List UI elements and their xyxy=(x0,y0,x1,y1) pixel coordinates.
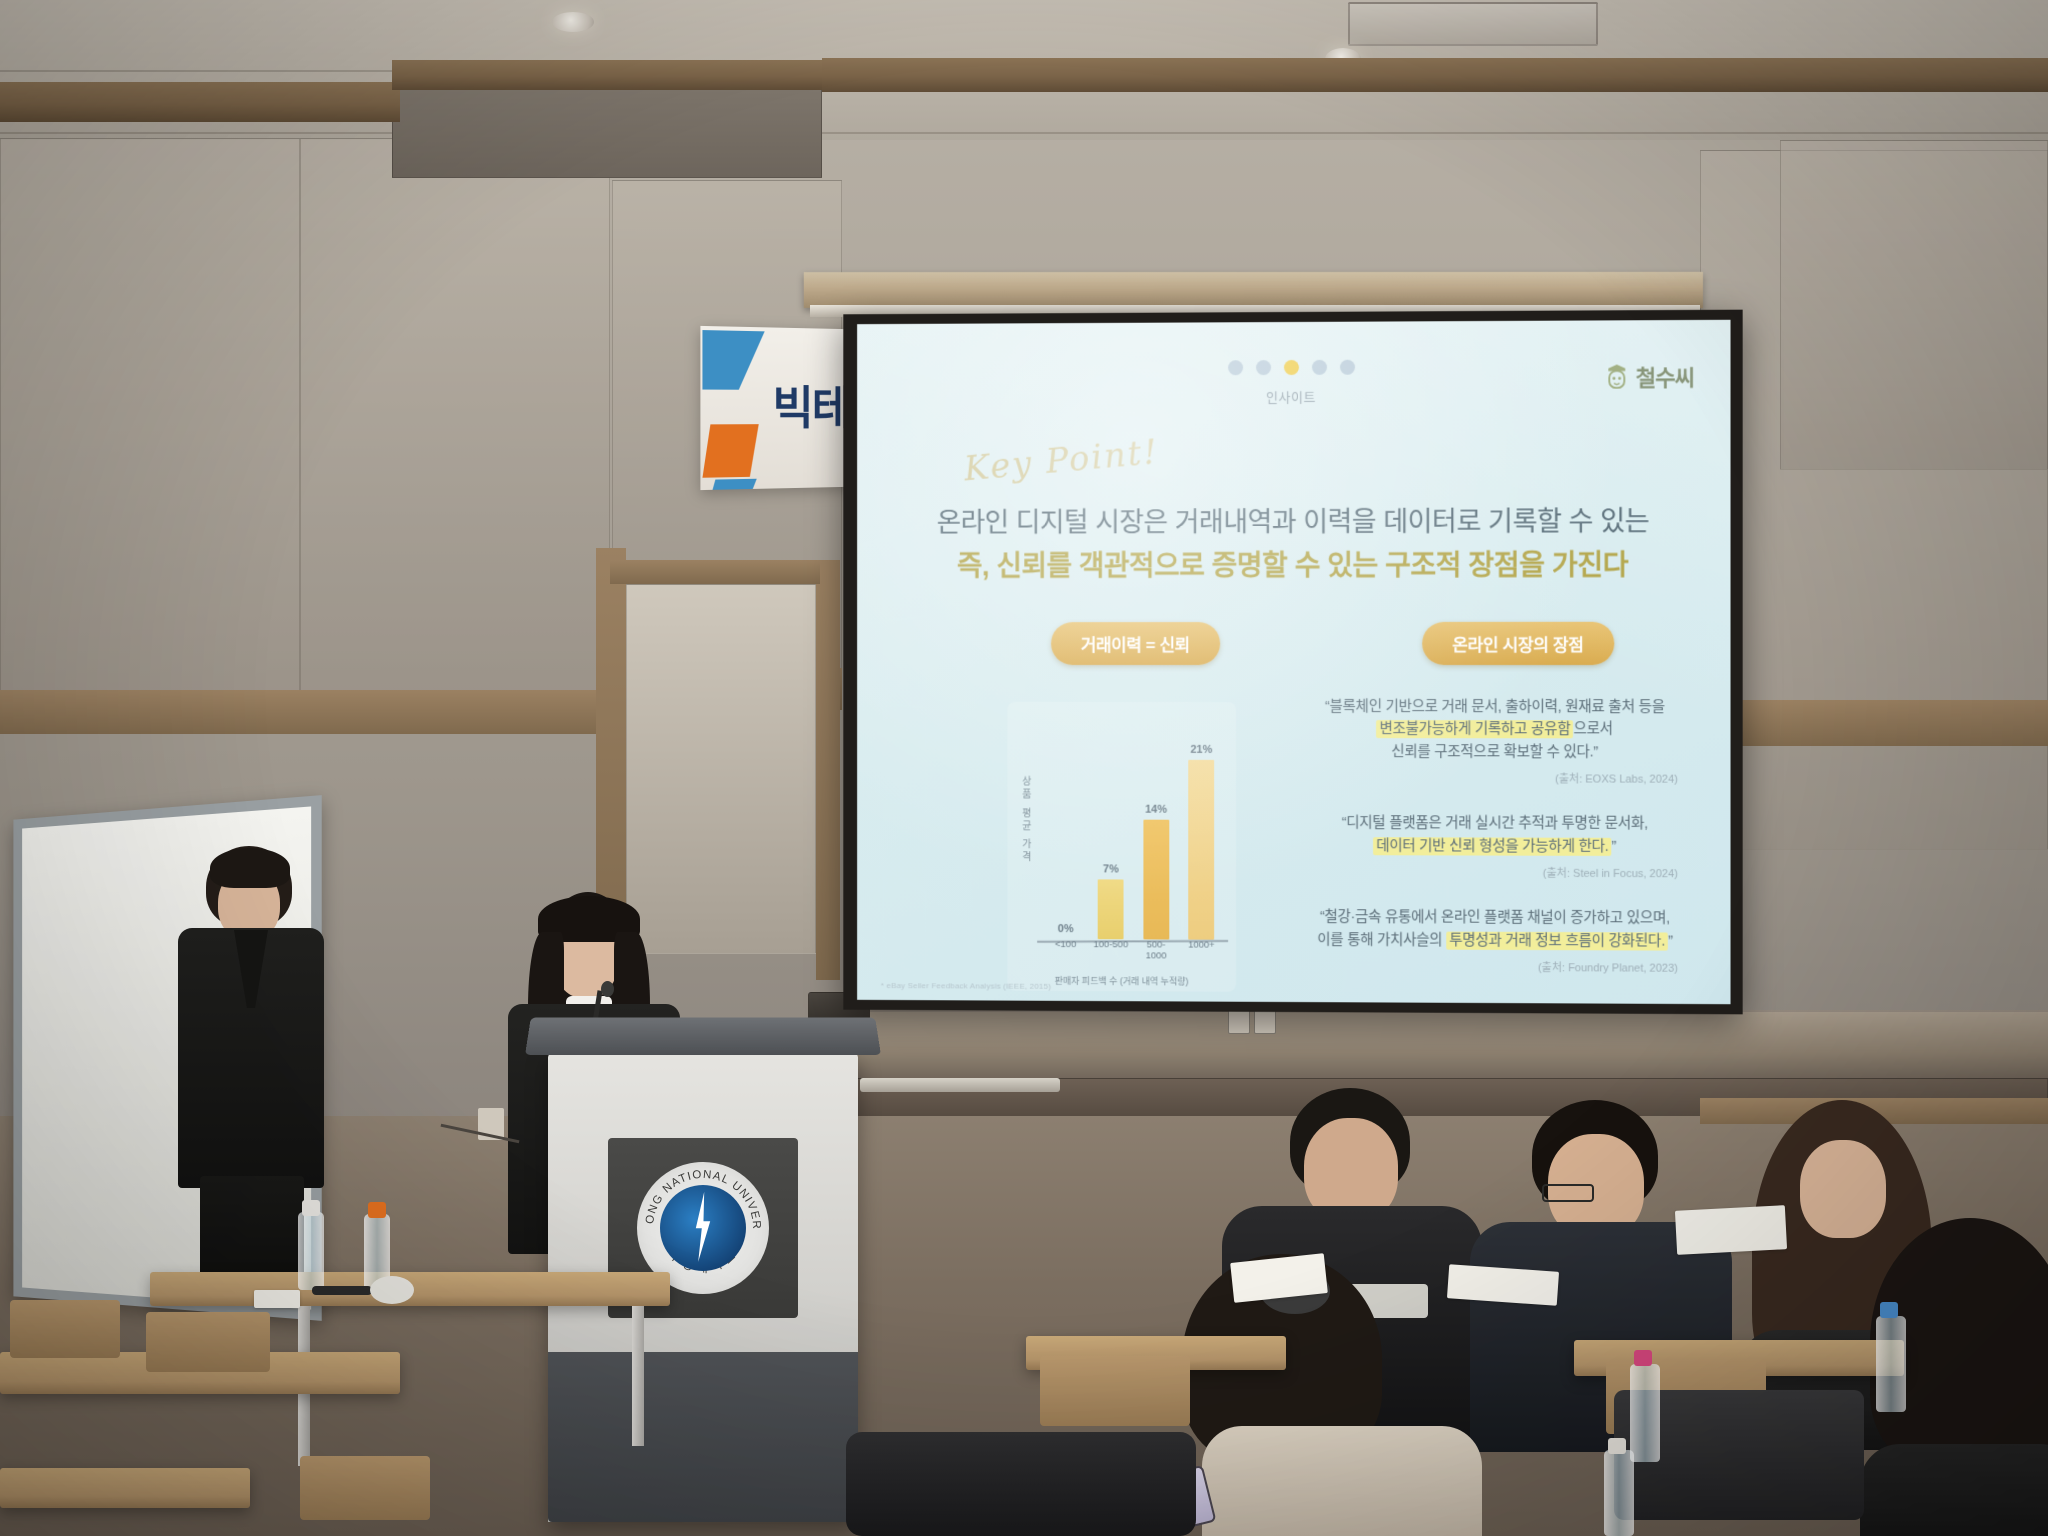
chart-bar-value-1: 0% xyxy=(1058,923,1074,935)
presentation-slide: 인사이트 철수씨 Key Point! 온라인 디지털 시장 xyxy=(857,320,1730,1004)
audience-chair-1 xyxy=(1040,1356,1190,1426)
wall-panel xyxy=(300,138,610,698)
wall-panel-dark xyxy=(392,84,822,178)
quote-3-prefix: 이를 통해 가치사슬의 xyxy=(1317,932,1446,949)
bottle-cap-orange[interactable] xyxy=(368,1202,386,1218)
chart-bars: 0% 7% 14% 2 xyxy=(1043,718,1224,940)
ceiling-seam xyxy=(0,132,2048,134)
progress-dot-2[interactable] xyxy=(1256,360,1271,375)
chart-bar-2 xyxy=(1098,879,1124,939)
chart-bar-3 xyxy=(1143,820,1169,940)
chart-x-tick-3: 500-1000 xyxy=(1138,939,1174,961)
chart-x-tick-2: 100-500 xyxy=(1093,939,1129,961)
chart-bar-value-4: 21% xyxy=(1190,744,1212,756)
quote-3-line2-tail: ” xyxy=(1668,933,1673,949)
banner-shape-blue-small xyxy=(709,479,757,490)
chart-bar-4 xyxy=(1188,760,1214,940)
brand-name: 철수씨 xyxy=(1636,360,1694,392)
progress-dot-3-active[interactable] xyxy=(1284,360,1299,375)
quote-1-source: (출처: EOXS Labs, 2024) xyxy=(1284,770,1706,787)
chart-bar-value-2: 7% xyxy=(1103,863,1119,875)
chart-bar-group-3: 14% xyxy=(1138,718,1174,940)
quote-block-1: “블록체인 기반으로 거래 문서, 출하이력, 원재료 출처 등을 변조불가능하… xyxy=(1284,696,1706,787)
quote-block-3: “철강·금속 유통에서 온라인 플랫폼 채널이 증가하고 있으며, 이를 통해 … xyxy=(1284,906,1706,976)
audience-2-glasses xyxy=(1542,1184,1594,1202)
quote-3-line2: 이를 통해 가치사슬의 투명성과 거래 정보 흐름이 강화된다.” xyxy=(1284,929,1706,953)
name-card[interactable] xyxy=(254,1290,300,1308)
bottle-cap-white[interactable] xyxy=(302,1200,320,1216)
chair-front-right xyxy=(300,1456,430,1520)
quote-1-line2: 변조불가능하게 기록하고 공유함으로서 xyxy=(1284,718,1706,741)
slide-section-label: 인사이트 xyxy=(857,385,1730,407)
ceiling-vent xyxy=(1348,2,1598,46)
door-frame xyxy=(610,560,820,584)
audience-bottle-cap-3[interactable] xyxy=(1608,1438,1626,1454)
bar-chart: 상품 평균 가격 0% 7% 14% xyxy=(1007,702,1236,992)
audience-bottle-cap-2[interactable] xyxy=(1634,1350,1652,1366)
mascot-icon xyxy=(1604,364,1629,390)
wood-beam xyxy=(0,82,400,122)
tissue-item[interactable] xyxy=(370,1276,414,1304)
chart-bar-group-4: 21% xyxy=(1183,718,1219,940)
quote-3-line1: “철강·금속 유통에서 온라인 플랫폼 채널이 증가하고 있으며, xyxy=(1284,906,1706,930)
keypoint-label: Key Point! xyxy=(962,432,1160,489)
projection-screen: 인사이트 철수씨 Key Point! 온라인 디지털 시장 xyxy=(843,310,1742,1015)
chart-x-ticks: <100 100-500 500-1000 1000+ xyxy=(1043,939,1224,962)
brand-logo: 철수씨 xyxy=(1604,360,1694,393)
quote-1-line2-tail: 으로서 xyxy=(1573,722,1612,738)
slide-footnote: * eBay Seller Feedback Analysis (IEEE, 2… xyxy=(881,981,1051,991)
quote-1-highlight: 변조불가능하게 기록하고 공유함 xyxy=(1376,721,1573,739)
audience-5-top xyxy=(1860,1444,2048,1536)
university-logo-emblem xyxy=(660,1185,746,1271)
ceiling-light xyxy=(552,12,594,32)
wood-trim xyxy=(816,560,840,980)
wood-beam xyxy=(822,58,2048,92)
podium-lower-panel xyxy=(548,1352,858,1522)
water-bottle-clear[interactable] xyxy=(298,1212,324,1290)
slide-progress-dots xyxy=(1228,360,1355,376)
audience-water-bottle-2[interactable] xyxy=(1630,1364,1660,1462)
chair-front-mid xyxy=(146,1312,270,1372)
quote-1-line1: “블록체인 기반으로 거래 문서, 출하이력, 원재료 출처 등을 xyxy=(1284,696,1706,719)
chart-plot-area: 0% 7% 14% 2 xyxy=(1043,718,1224,940)
audience-water-bottle-1[interactable] xyxy=(1876,1316,1906,1412)
podium-desktop xyxy=(525,1018,881,1055)
wall-panel xyxy=(1780,140,2048,470)
badge-trade-history: 거래이력 = 신뢰 xyxy=(1051,622,1220,665)
stage-rail xyxy=(860,1078,1060,1092)
progress-dot-4[interactable] xyxy=(1311,360,1326,375)
quote-2-line1: “디지털 플랫폼은 거래 실시간 추적과 투명한 문서화, xyxy=(1284,812,1706,836)
wall-panel xyxy=(0,138,300,698)
handout-paper-3[interactable] xyxy=(1675,1205,1787,1255)
wood-trim xyxy=(1700,700,2048,746)
slide-title-line1: 온라인 디지털 시장은 거래내역과 이력을 데이터로 기록할 수 있는 xyxy=(857,499,1730,540)
quote-2-highlight: 데이터 기반 신뢰 형성을 가능하게 한다. xyxy=(1373,837,1611,856)
chart-bar-group-1: 0% xyxy=(1048,718,1084,939)
jacket-on-seat xyxy=(846,1432,1196,1536)
quote-block-2: “디지털 플랫폼은 거래 실시간 추적과 투명한 문서화, 데이터 기반 신뢰 … xyxy=(1284,812,1706,881)
quote-1-line3: 신뢰를 구조적으로 확보할 수 있다.” xyxy=(1284,741,1706,764)
quote-2-line2-tail: ” xyxy=(1612,839,1617,855)
quote-2-source: (출처: Steel in Focus, 2024) xyxy=(1284,864,1706,881)
progress-dot-1[interactable] xyxy=(1228,360,1243,375)
presenter-left-fringe xyxy=(210,848,290,888)
slide-title-line2: 즉, 신뢰를 객관적으로 증명할 수 있는 구조적 장점을 가진다 xyxy=(857,543,1730,584)
chart-x-tick-4: 1000+ xyxy=(1183,940,1219,962)
audience-bottle-cap-1[interactable] xyxy=(1880,1302,1898,1318)
chair-front-left xyxy=(10,1300,120,1358)
stage-platform xyxy=(830,1010,2048,1080)
lightning-bolt-icon xyxy=(691,1192,715,1262)
front-desk-3 xyxy=(0,1468,250,1508)
chart-bar-group-2: 7% xyxy=(1093,718,1129,940)
wood-beam xyxy=(392,60,832,90)
audience-water-bottle-3[interactable] xyxy=(1604,1450,1634,1536)
projector-screen-housing xyxy=(804,272,1703,308)
banner-shape-blue xyxy=(702,330,764,390)
quote-3-source: (출처: Foundry Planet, 2023) xyxy=(1284,958,1706,976)
quote-list: “블록체인 기반으로 거래 문서, 출하이력, 원재료 출처 등을 변조불가능하… xyxy=(1284,696,1706,1002)
microphone-head xyxy=(601,981,614,997)
chart-x-tick-1: <100 xyxy=(1048,939,1084,961)
quote-3-highlight: 투명성과 거래 정보 흐름이 강화된다. xyxy=(1446,931,1668,950)
front-desk-1-leg xyxy=(632,1306,644,1446)
chart-y-axis-label: 상품 평균 가격 xyxy=(1017,776,1032,865)
screenshot-root: 빅테크 인사이트 xyxy=(0,0,2048,1536)
progress-dot-5[interactable] xyxy=(1339,360,1354,375)
marker-pen[interactable] xyxy=(312,1286,372,1295)
quote-2-line2: 데이터 기반 신뢰 형성을 가능하게 한다.” xyxy=(1284,835,1706,859)
banner-shape-orange xyxy=(702,424,758,478)
screen-surface: 인사이트 철수씨 Key Point! 온라인 디지털 시장 xyxy=(857,320,1730,1004)
badge-online-market-advantage: 온라인 시장의 장점 xyxy=(1422,622,1614,665)
chart-bar-value-3: 14% xyxy=(1145,804,1167,816)
audience-4-cream-coat xyxy=(1202,1426,1482,1536)
slide-progress-nav: 인사이트 xyxy=(857,358,1730,408)
wood-trim xyxy=(0,690,612,734)
